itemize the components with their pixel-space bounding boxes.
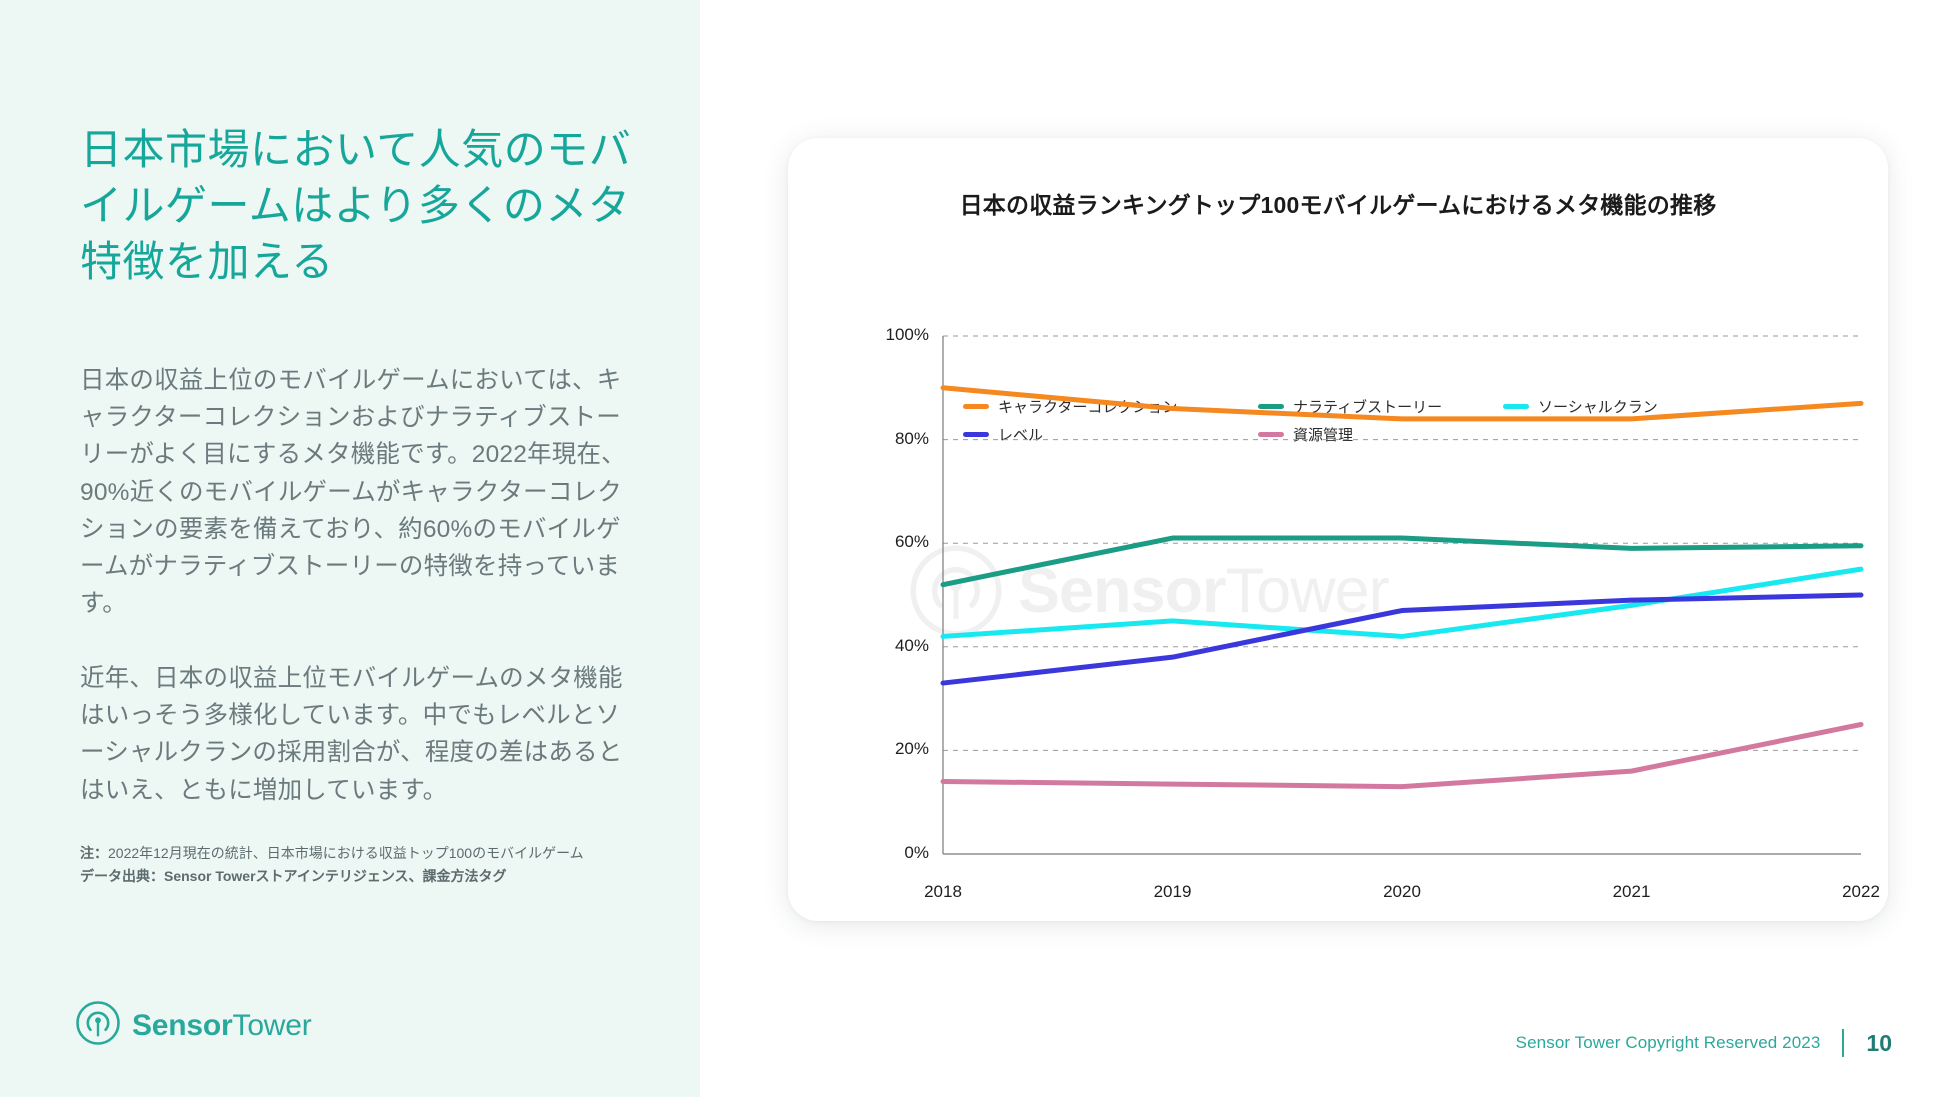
x-tick-label: 2019 <box>1123 882 1223 902</box>
logo-light-text: Tower <box>233 1009 312 1042</box>
y-tick-label: 60% <box>859 532 929 552</box>
footnote-block: 注：2022年12月現在の統計、日本市場における収益トップ100のモバイルゲーム… <box>80 843 628 887</box>
footnote-note-text: 2022年12月現在の統計、日本市場における収益トップ100のモバイルゲーム <box>108 845 584 861</box>
sensor-tower-logo: SensorTower <box>75 1000 312 1051</box>
chart-card: 日本の収益ランキングトップ100モバイルゲームにおけるメタ機能の推移 キャラクタ… <box>788 138 1888 921</box>
body-paragraph-2: 近年、日本の収益上位モバイルゲームのメタ機能はいっそう多様化しています。中でもレ… <box>80 660 628 809</box>
y-tick-label: 20% <box>859 739 929 759</box>
footer-copyright: Sensor Tower Copyright Reserved 2023 <box>1516 1033 1821 1053</box>
series-line-0 <box>943 388 1861 419</box>
footnote-note-lead: 注： <box>80 845 108 861</box>
body-paragraph-1: 日本の収益上位のモバイルゲームにおいては、キャラクターコレクションおよびナラティ… <box>80 362 628 623</box>
series-line-3 <box>943 595 1861 683</box>
footer: Sensor Tower Copyright Reserved 2023 10 <box>1516 1029 1892 1057</box>
left-panel: 日本市場において人気のモバイルゲームはより多くのメタ特徴を加える 日本の収益上位… <box>0 0 700 1097</box>
x-tick-label: 2021 <box>1582 882 1682 902</box>
y-tick-label: 40% <box>859 636 929 656</box>
series-line-4 <box>943 725 1861 787</box>
chart-svg <box>788 138 1888 921</box>
plot-area: SensorTower 0%20%40%60%80%100% 201820192… <box>788 138 1888 921</box>
slide-root: 日本市場において人気のモバイルゲームはより多くのメタ特徴を加える 日本の収益上位… <box>0 0 1950 1097</box>
footnote-note: 注：2022年12月現在の統計、日本市場における収益トップ100のモバイルゲーム <box>80 843 628 864</box>
sensor-tower-mark-icon <box>75 1000 121 1051</box>
series-line-1 <box>943 538 1861 585</box>
logo-bold-text: Sensor <box>132 1009 233 1042</box>
footer-divider <box>1842 1029 1844 1057</box>
x-tick-label: 2018 <box>893 882 993 902</box>
y-tick-label: 0% <box>859 843 929 863</box>
series-line-2 <box>943 569 1861 636</box>
series-lines <box>943 388 1861 787</box>
x-tick-label: 2022 <box>1811 882 1888 902</box>
y-tick-label: 100% <box>859 325 929 345</box>
x-tick-label: 2020 <box>1352 882 1452 902</box>
y-tick-label: 80% <box>859 429 929 449</box>
page-number: 10 <box>1866 1030 1892 1057</box>
page-title: 日本市場において人気のモバイルゲームはより多くのメタ特徴を加える <box>80 122 640 290</box>
footnote-source: データ出典：Sensor Towerストアインテリジェンス、課金方法タグ <box>80 866 628 887</box>
sensor-tower-wordmark: SensorTower <box>132 1009 312 1043</box>
